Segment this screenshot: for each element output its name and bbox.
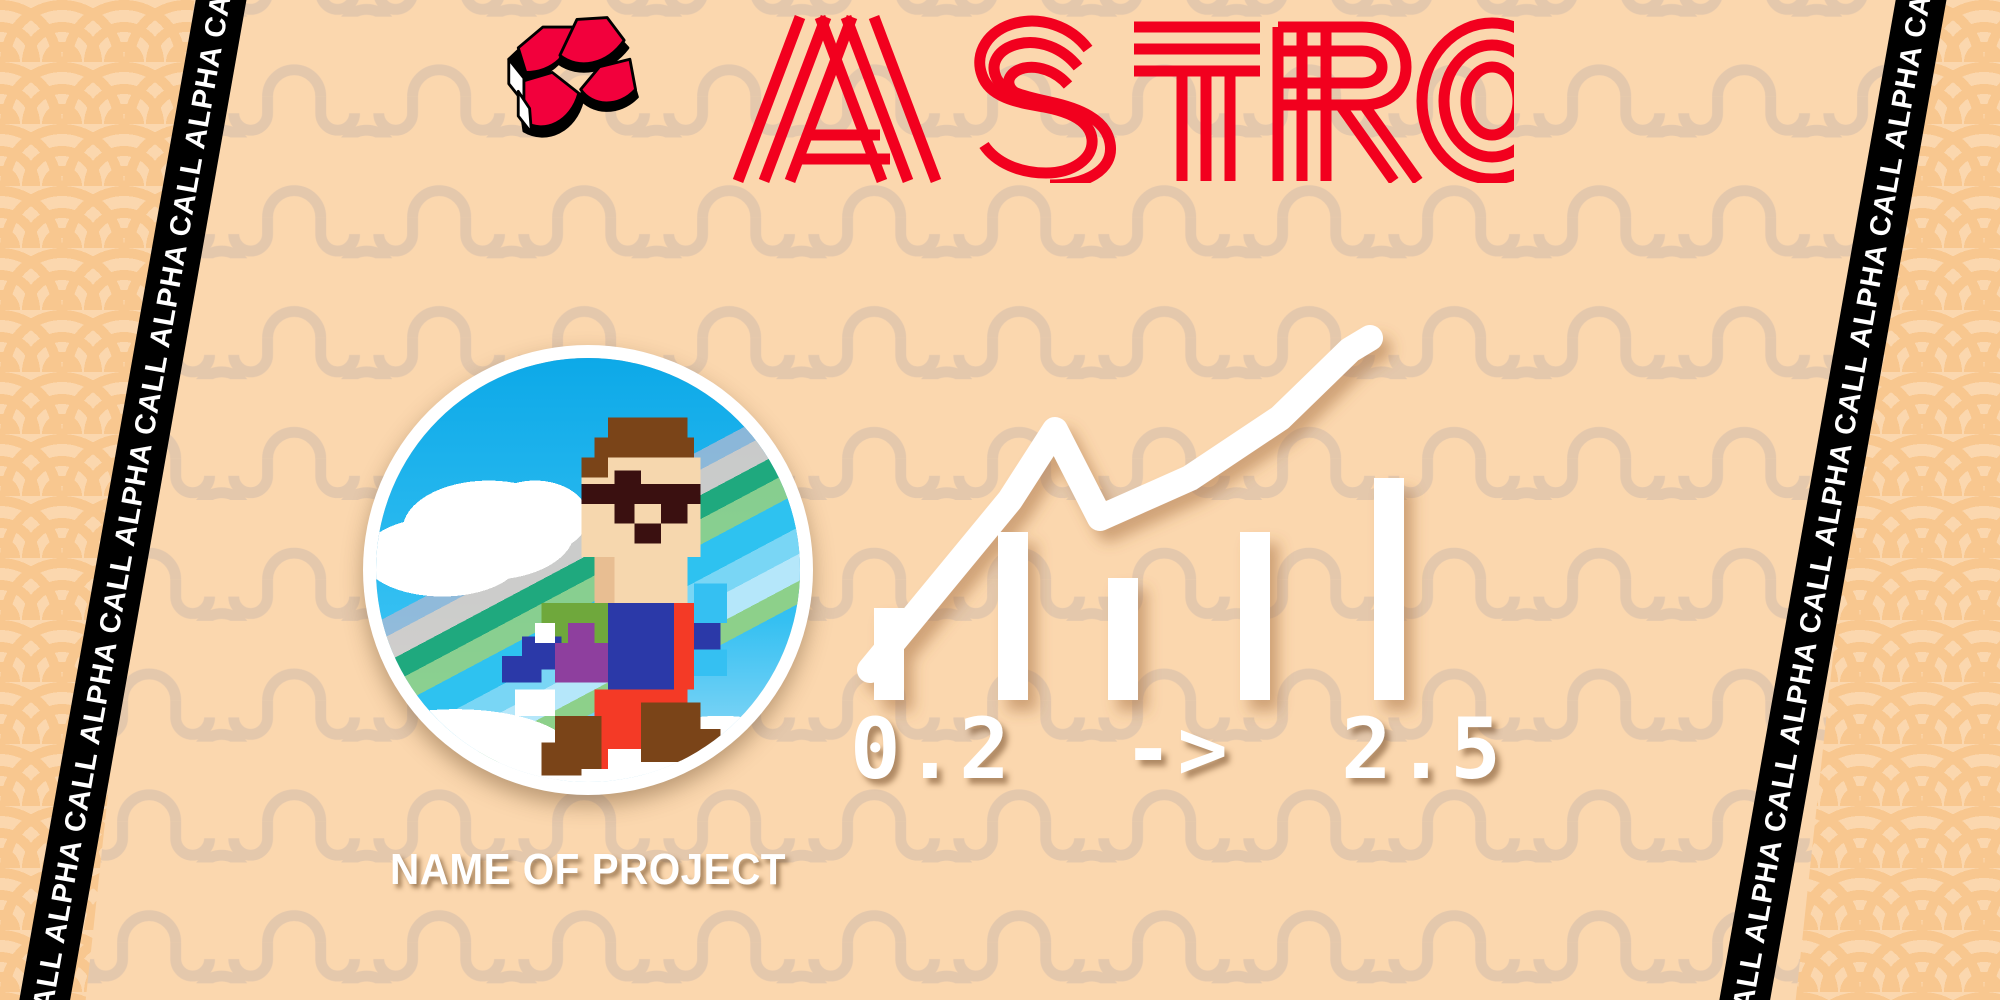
chart-bar-3 xyxy=(1108,578,1138,700)
chart-bar-2 xyxy=(998,532,1028,700)
metric-change-label: 0.2 -> 2.5 xyxy=(850,700,1470,798)
alpha-call-card: ALPHA CALL ALPHA CALL ALPHA CALL ALPHA C… xyxy=(0,0,2000,1000)
avatar-image xyxy=(376,358,800,782)
chart-bar-1 xyxy=(874,608,904,700)
growth-chart xyxy=(850,250,1470,710)
project-name-label: NAME OF PROJECT xyxy=(381,845,795,895)
astro-pinwheel-mark-icon xyxy=(480,10,670,185)
astro-wordmark xyxy=(694,13,1514,183)
project-avatar[interactable] xyxy=(363,345,813,795)
chart-bar-4 xyxy=(1240,532,1270,700)
astro-logo xyxy=(480,10,1514,185)
avatar-ring xyxy=(363,345,813,795)
chart-bar-5 xyxy=(1374,478,1404,700)
